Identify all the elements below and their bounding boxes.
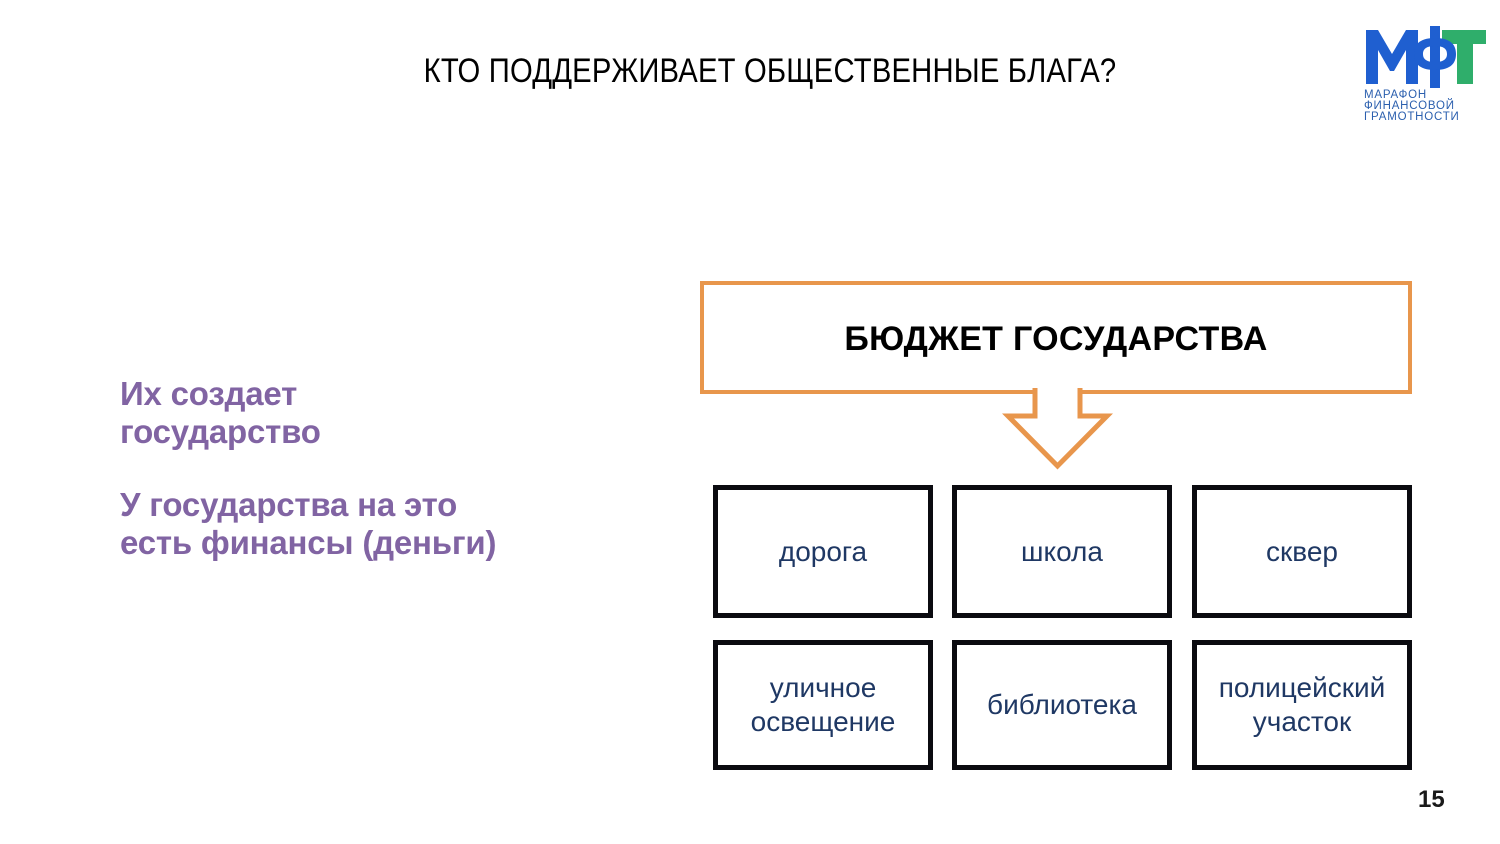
benefit-box-park: сквер <box>1192 485 1412 618</box>
benefit-box-library: библиотека <box>952 640 1172 770</box>
mfg-logo-graphic: МАРАФОН ФИНАНСОВОЙ ГРАМОТНОСТИ <box>1356 24 1492 120</box>
benefit-label: школа <box>1021 535 1103 569</box>
benefit-label: библиотека <box>987 688 1137 722</box>
benefit-box-street-lighting: уличноеосвещение <box>713 640 933 770</box>
benefit-label: сквер <box>1266 535 1338 569</box>
benefit-label: полицейскийучасток <box>1219 671 1386 738</box>
statement-state-creates: Их создает государство <box>120 375 450 452</box>
benefit-box-police-station: полицейскийучасток <box>1192 640 1412 770</box>
benefit-label: уличноеосвещение <box>751 671 896 738</box>
slide-canvas: КТО ПОДДЕРЖИВАЕТ ОБЩЕСТВЕННЫЕ БЛАГА? МАР… <box>0 0 1500 844</box>
logo-line-3: ГРАМОТНОСТИ <box>1364 111 1460 120</box>
page-title: КТО ПОДДЕРЖИВАЕТ ОБЩЕСТВЕННЫЕ БЛАГА? <box>366 52 1174 91</box>
benefit-box-school: школа <box>952 485 1172 618</box>
mfg-logo: МАРАФОН ФИНАНСОВОЙ ГРАМОТНОСТИ <box>1356 24 1492 120</box>
benefit-label: дорога <box>779 535 867 569</box>
page-number: 15 <box>1418 786 1445 814</box>
budget-box-label: БЮДЖЕТ ГОСУДАРСТВА <box>700 320 1412 359</box>
benefit-box-road: дорога <box>713 485 933 618</box>
down-arrow-icon <box>995 386 1120 472</box>
statement-state-has-finance: У государства на это есть финансы (деньг… <box>120 486 520 563</box>
